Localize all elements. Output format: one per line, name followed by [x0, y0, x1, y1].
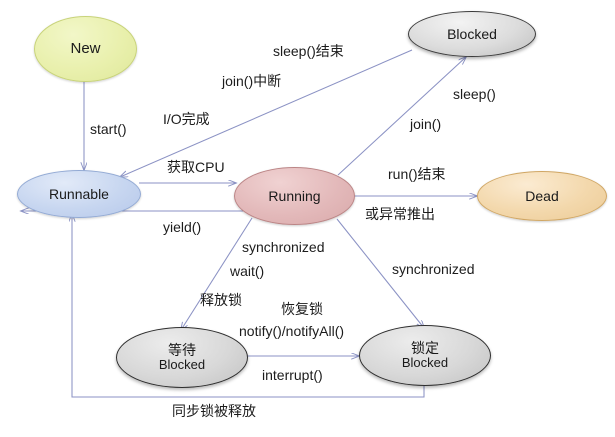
node-running-label-primary: Running — [268, 189, 320, 204]
edge-label-release-lock: 释放锁 — [200, 293, 242, 308]
node-waiting[interactable]: 等待Blocked — [116, 327, 248, 388]
edge-label-notify: notify()/notifyAll() — [239, 324, 344, 339]
edge-label-join-break: join()中断 — [222, 74, 281, 89]
node-blocked[interactable]: Blocked — [408, 11, 536, 57]
edge-label-sleep: sleep() — [453, 87, 496, 102]
node-runnable-label-primary: Runnable — [49, 187, 109, 202]
edge-label-wait: wait() — [230, 264, 264, 279]
node-waiting-label-primary: 等待 — [168, 343, 196, 358]
edge-label-get-cpu: 获取CPU — [167, 160, 225, 175]
node-new-label-primary: New — [70, 41, 100, 57]
edge-label-interrupt: interrupt() — [262, 368, 323, 383]
node-running[interactable]: Running — [234, 167, 355, 225]
edge-label-sync-right: synchronized — [392, 262, 475, 277]
node-dead[interactable]: Dead — [477, 171, 607, 221]
edge-label-abnormal: 或异常推出 — [365, 207, 435, 222]
node-waiting-label-secondary: Blocked — [159, 358, 205, 372]
edge-label-sleep-end: sleep()结束 — [273, 44, 344, 59]
edge-label-sync-left: synchronized — [242, 240, 325, 255]
edge-label-restore-lock: 恢复锁 — [281, 302, 323, 317]
node-dead-label-primary: Dead — [525, 189, 558, 204]
thread-state-diagram: NewRunnableRunningBlockedDead等待Blocked锁定… — [0, 0, 615, 437]
node-locked-label-primary: 锁定 — [411, 341, 439, 356]
edge-running-to-blocked — [338, 57, 466, 175]
edge-label-join: join() — [410, 117, 441, 132]
node-runnable[interactable]: Runnable — [17, 170, 141, 218]
edge-label-yield: yield() — [163, 220, 201, 235]
edge-label-sync-release: 同步锁被释放 — [172, 404, 256, 419]
node-locked[interactable]: 锁定Blocked — [359, 325, 491, 386]
edge-label-io-done: I/O完成 — [163, 112, 210, 127]
node-blocked-label-primary: Blocked — [447, 27, 497, 42]
node-new[interactable]: New — [34, 16, 137, 82]
node-locked-label-secondary: Blocked — [402, 356, 448, 370]
edge-label-run-end: run()结束 — [388, 167, 446, 182]
edge-label-start: start() — [90, 122, 127, 137]
